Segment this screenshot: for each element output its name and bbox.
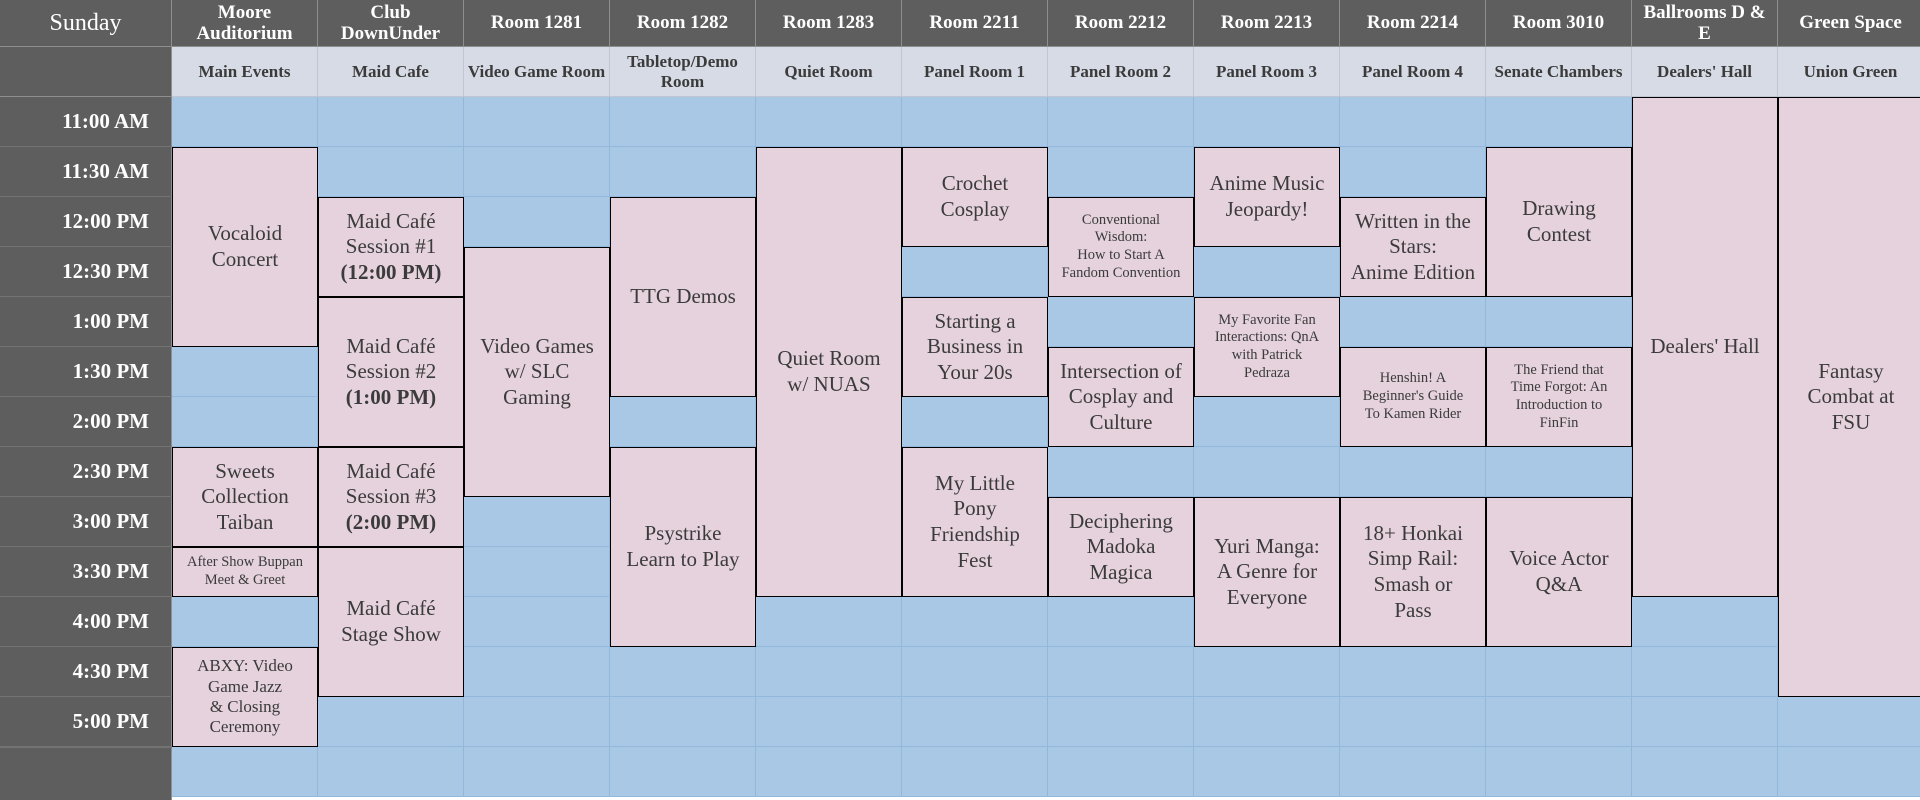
event-title-line: Pedraza: [1244, 365, 1290, 383]
event-title-line: My Little: [935, 471, 1015, 497]
event-block[interactable]: Maid CaféStage Show: [318, 547, 464, 697]
event-title-line: TTG Demos: [630, 284, 736, 310]
event-title-line: Fest: [957, 548, 992, 574]
event-block[interactable]: Voice ActorQ&A: [1486, 497, 1632, 647]
empty-slot[interactable]: [1778, 747, 1920, 797]
empty-slot[interactable]: [1194, 647, 1340, 697]
event-title-line: Anime Music: [1210, 171, 1325, 197]
function-header-blank: [0, 47, 172, 97]
event-title-line: Learn to Play: [626, 547, 739, 573]
time-label-3: 12:30 PM: [0, 247, 172, 297]
event-block[interactable]: ABXY: VideoGame Jazz& ClosingCeremony: [172, 647, 318, 747]
venue-header-7: Room 2213: [1194, 0, 1340, 47]
event-title-line: Maid Café: [346, 596, 435, 622]
event-title-line: Pony: [953, 496, 996, 522]
empty-slot[interactable]: [172, 397, 318, 447]
event-title-line: Pass: [1394, 598, 1431, 624]
empty-slot[interactable]: [464, 97, 610, 147]
empty-slot[interactable]: [1048, 447, 1194, 497]
event-title-line: Sweets: [215, 459, 275, 485]
empty-slot[interactable]: [464, 497, 610, 547]
event-block[interactable]: Henshin! ABeginner's GuideTo Kamen Rider: [1340, 347, 1486, 447]
event-title-line: Stars:: [1389, 234, 1437, 260]
event-title-line: FSU: [1832, 410, 1871, 436]
empty-slot[interactable]: [1048, 747, 1194, 797]
event-title-line: Ceremony: [210, 717, 281, 737]
empty-slot[interactable]: [1048, 697, 1194, 747]
empty-slot[interactable]: [1048, 297, 1194, 347]
empty-slot[interactable]: [902, 697, 1048, 747]
event-title-line: Maid Café: [346, 459, 435, 485]
event-title-line: Collection: [201, 484, 289, 510]
empty-slot[interactable]: [756, 747, 902, 797]
empty-slot[interactable]: [1048, 647, 1194, 697]
event-title-line: To Kamen Rider: [1365, 406, 1461, 424]
empty-slot[interactable]: [1340, 647, 1486, 697]
venue-function-1: Maid Cafe: [318, 47, 464, 97]
venue-function-9: Senate Chambers: [1486, 47, 1632, 97]
schedule-grid: SundayMoore AuditoriumClub DownUnderRoom…: [0, 0, 1920, 800]
event-time-note: (1:00 PM): [346, 385, 436, 411]
empty-slot[interactable]: [1194, 747, 1340, 797]
event-block[interactable]: Starting aBusiness inYour 20s: [902, 297, 1048, 397]
event-title-line: Contest: [1527, 222, 1591, 248]
event-block[interactable]: ConventionalWisdom:How to Start AFandom …: [1048, 197, 1194, 297]
event-block[interactable]: Yuri Manga:A Genre forEveryone: [1194, 497, 1340, 647]
empty-slot[interactable]: [318, 747, 464, 797]
event-title-line: Henshin! A: [1380, 370, 1446, 388]
event-title-line: Simp Rail:: [1368, 546, 1458, 572]
event-title-line: Deciphering: [1069, 509, 1173, 535]
event-title-line: Yuri Manga:: [1214, 534, 1320, 560]
empty-slot[interactable]: [902, 597, 1048, 647]
time-label-11: 4:30 PM: [0, 647, 172, 697]
event-title-line: Your 20s: [937, 360, 1012, 386]
event-title-line: Everyone: [1227, 585, 1307, 611]
time-label-0: 11:00 AM: [0, 97, 172, 147]
empty-slot[interactable]: [1194, 97, 1340, 147]
event-block[interactable]: CrochetCosplay: [902, 147, 1048, 247]
empty-slot[interactable]: [1632, 597, 1778, 647]
event-title-line: Session #1: [346, 234, 436, 260]
event-title-line: FinFin: [1540, 415, 1579, 433]
event-block[interactable]: TTG Demos: [610, 197, 756, 397]
event-title-line: Business in: [927, 334, 1023, 360]
event-title-line: 18+ Honkai: [1363, 521, 1463, 547]
venue-function-5: Panel Room 1: [902, 47, 1048, 97]
event-block[interactable]: 18+ HonkaiSimp Rail:Smash orPass: [1340, 497, 1486, 647]
empty-slot[interactable]: [756, 97, 902, 147]
event-block[interactable]: Maid CaféSession #2(1:00 PM): [318, 297, 464, 447]
event-title-line: Crochet: [942, 171, 1008, 197]
empty-slot[interactable]: [318, 97, 464, 147]
event-title-line: Quiet Room: [777, 346, 880, 372]
event-block[interactable]: FantasyCombat atFSU: [1778, 97, 1920, 697]
event-title-line: Voice Actor: [1509, 546, 1608, 572]
event-block[interactable]: VocaloidConcert: [172, 147, 318, 347]
empty-slot[interactable]: [610, 147, 756, 197]
empty-slot[interactable]: [1194, 447, 1340, 497]
event-title-line: Conventional: [1082, 212, 1160, 230]
event-title-line: Gaming: [503, 385, 571, 411]
event-title-line: Q&A: [1536, 572, 1583, 598]
venue-header-10: Ballrooms D & E: [1632, 0, 1778, 47]
event-title-line: Intersection of: [1060, 359, 1182, 385]
empty-slot[interactable]: [1340, 97, 1486, 147]
event-title-line: Starting a: [934, 309, 1015, 335]
event-title-line: with Patrick: [1232, 347, 1302, 365]
event-title-line: Game Jazz: [208, 677, 282, 697]
empty-slot[interactable]: [172, 97, 318, 147]
event-title-line: Stage Show: [341, 622, 441, 648]
event-block[interactable]: Video Gamesw/ SLCGaming: [464, 247, 610, 497]
empty-slot[interactable]: [1048, 147, 1194, 197]
event-block[interactable]: Written in theStars:Anime Edition: [1340, 197, 1486, 297]
venue-header-6: Room 2212: [1048, 0, 1194, 47]
empty-slot[interactable]: [1340, 697, 1486, 747]
event-time-note: (12:00 PM): [341, 260, 442, 286]
event-block[interactable]: My Favorite FanInteractions: QnAwith Pat…: [1194, 297, 1340, 397]
empty-slot[interactable]: [1340, 447, 1486, 497]
empty-slot[interactable]: [318, 697, 464, 747]
event-block[interactable]: My LittlePonyFriendshipFest: [902, 447, 1048, 597]
empty-slot[interactable]: [1778, 697, 1920, 747]
empty-slot[interactable]: [1632, 747, 1778, 797]
empty-slot[interactable]: [1194, 397, 1340, 447]
event-title-line: w/ NUAS: [787, 372, 870, 398]
empty-slot[interactable]: [318, 147, 464, 197]
time-column-footer: [0, 747, 172, 800]
empty-slot[interactable]: [1486, 97, 1632, 147]
empty-slot[interactable]: [1340, 747, 1486, 797]
venue-header-9: Room 3010: [1486, 0, 1632, 47]
time-label-9: 3:30 PM: [0, 547, 172, 597]
empty-slot[interactable]: [610, 697, 756, 747]
event-title-line: Dealers' Hall: [1650, 334, 1759, 360]
event-block[interactable]: Maid CaféSession #1(12:00 PM): [318, 197, 464, 297]
venue-function-0: Main Events: [172, 47, 318, 97]
venue-header-2: Room 1281: [464, 0, 610, 47]
event-title-line: Introduction to: [1516, 397, 1603, 415]
event-title-line: Cosplay and: [1069, 384, 1173, 410]
event-title-line: A Genre for: [1217, 559, 1317, 585]
venue-header-5: Room 2211: [902, 0, 1048, 47]
event-title-line: Interactions: QnA: [1215, 329, 1319, 347]
empty-slot[interactable]: [1486, 747, 1632, 797]
event-title-line: Beginner's Guide: [1363, 388, 1463, 406]
event-block[interactable]: Dealers' Hall: [1632, 97, 1778, 597]
empty-slot[interactable]: [1340, 297, 1486, 347]
empty-slot[interactable]: [464, 147, 610, 197]
empty-slot[interactable]: [610, 747, 756, 797]
empty-slot[interactable]: [756, 647, 902, 697]
event-title-line: Friendship: [930, 522, 1020, 548]
empty-slot[interactable]: [464, 197, 610, 247]
event-title-line: How to Start A: [1077, 247, 1164, 265]
time-label-12: 5:00 PM: [0, 697, 172, 747]
empty-slot[interactable]: [902, 747, 1048, 797]
event-title-line: Vocaloid: [208, 221, 282, 247]
venue-header-4: Room 1283: [756, 0, 902, 47]
empty-slot[interactable]: [464, 747, 610, 797]
event-title-line: Jeopardy!: [1226, 197, 1309, 223]
event-title-line: & Closing: [210, 697, 280, 717]
time-label-5: 1:30 PM: [0, 347, 172, 397]
empty-slot[interactable]: [464, 597, 610, 647]
empty-slot[interactable]: [902, 647, 1048, 697]
event-title-line: w/ SLC: [505, 359, 570, 385]
event-title-line: Psystrike: [644, 521, 721, 547]
empty-slot[interactable]: [464, 697, 610, 747]
venue-header-8: Room 2214: [1340, 0, 1486, 47]
empty-slot[interactable]: [1486, 297, 1632, 347]
event-title-line: Maid Café: [346, 209, 435, 235]
event-title-line: Fantasy: [1818, 359, 1883, 385]
time-label-1: 11:30 AM: [0, 147, 172, 197]
empty-slot[interactable]: [1486, 697, 1632, 747]
event-title-line: Fandom Convention: [1062, 265, 1181, 283]
event-title-line: Cosplay: [941, 197, 1010, 223]
event-block[interactable]: The Friend thatTime Forgot: AnIntroducti…: [1486, 347, 1632, 447]
time-label-7: 2:30 PM: [0, 447, 172, 497]
empty-slot[interactable]: [756, 597, 902, 647]
empty-slot[interactable]: [902, 97, 1048, 147]
venue-header-11: Green Space: [1778, 0, 1920, 47]
empty-slot[interactable]: [1632, 647, 1778, 697]
empty-slot[interactable]: [172, 347, 318, 397]
empty-slot[interactable]: [1194, 247, 1340, 297]
empty-slot[interactable]: [1486, 647, 1632, 697]
empty-slot[interactable]: [610, 397, 756, 447]
event-title-line: Drawing: [1522, 196, 1595, 222]
empty-slot[interactable]: [756, 697, 902, 747]
venue-function-10: Dealers' Hall: [1632, 47, 1778, 97]
event-title-line: The Friend that: [1514, 362, 1603, 380]
empty-slot[interactable]: [464, 647, 610, 697]
event-title-line: Time Forgot: An: [1511, 379, 1608, 397]
venue-function-11: Union Green: [1778, 47, 1920, 97]
event-title-line: Meet & Greet: [205, 572, 286, 590]
venue-header-1: Club DownUnder: [318, 0, 464, 47]
venue-function-8: Panel Room 4: [1340, 47, 1486, 97]
event-title-line: ABXY: Video: [197, 656, 293, 676]
venue-function-3: Tabletop/Demo Room: [610, 47, 756, 97]
event-title-line: Written in the: [1355, 209, 1471, 235]
empty-slot[interactable]: [172, 747, 318, 797]
event-title-line: Video Games: [480, 334, 594, 360]
event-title-line: Culture: [1090, 410, 1153, 436]
time-label-4: 1:00 PM: [0, 297, 172, 347]
event-title-line: Anime Edition: [1351, 260, 1475, 286]
empty-slot[interactable]: [1048, 97, 1194, 147]
event-block[interactable]: SweetsCollectionTaiban: [172, 447, 318, 547]
venue-function-7: Panel Room 3: [1194, 47, 1340, 97]
time-label-10: 4:00 PM: [0, 597, 172, 647]
empty-slot[interactable]: [172, 597, 318, 647]
empty-slot[interactable]: [1194, 697, 1340, 747]
event-title-line: My Favorite Fan: [1218, 312, 1315, 330]
event-title-line: Smash or: [1374, 572, 1453, 598]
event-block[interactable]: After Show BuppanMeet & Greet: [172, 547, 318, 597]
event-block[interactable]: PsystrikeLearn to Play: [610, 447, 756, 647]
venue-function-6: Panel Room 2: [1048, 47, 1194, 97]
empty-slot[interactable]: [902, 247, 1048, 297]
empty-slot[interactable]: [610, 97, 756, 147]
event-title-line: Taiban: [217, 510, 274, 536]
event-title-line: Concert: [212, 247, 278, 273]
empty-slot[interactable]: [610, 647, 756, 697]
time-label-6: 2:00 PM: [0, 397, 172, 447]
event-title-line: Maid Café: [346, 334, 435, 360]
event-block[interactable]: DrawingContest: [1486, 147, 1632, 297]
venue-header-0: Moore Auditorium: [172, 0, 318, 47]
event-title-line: Wisdom:: [1095, 229, 1148, 247]
event-block[interactable]: Intersection ofCosplay andCulture: [1048, 347, 1194, 447]
venue-function-2: Video Game Room: [464, 47, 610, 97]
event-block[interactable]: DecipheringMadokaMagica: [1048, 497, 1194, 597]
empty-slot[interactable]: [1486, 447, 1632, 497]
empty-slot[interactable]: [1048, 597, 1194, 647]
event-block[interactable]: Anime MusicJeopardy!: [1194, 147, 1340, 247]
day-label: Sunday: [0, 0, 172, 47]
event-title-line: Madoka: [1087, 534, 1156, 560]
empty-slot[interactable]: [902, 397, 1048, 447]
venue-function-4: Quiet Room: [756, 47, 902, 97]
empty-slot[interactable]: [1340, 147, 1486, 197]
event-title-line: Magica: [1090, 560, 1153, 586]
event-title-line: Session #3: [346, 484, 436, 510]
event-title-line: Session #2: [346, 359, 436, 385]
time-label-2: 12:00 PM: [0, 197, 172, 247]
event-time-note: (2:00 PM): [346, 510, 436, 536]
venue-header-3: Room 1282: [610, 0, 756, 47]
event-block[interactable]: Quiet Roomw/ NUAS: [756, 147, 902, 597]
event-title-line: Combat at: [1808, 384, 1895, 410]
empty-slot[interactable]: [464, 547, 610, 597]
time-label-8: 3:00 PM: [0, 497, 172, 547]
event-block[interactable]: Maid CaféSession #3(2:00 PM): [318, 447, 464, 547]
event-title-line: After Show Buppan: [187, 554, 303, 572]
empty-slot[interactable]: [1632, 697, 1778, 747]
